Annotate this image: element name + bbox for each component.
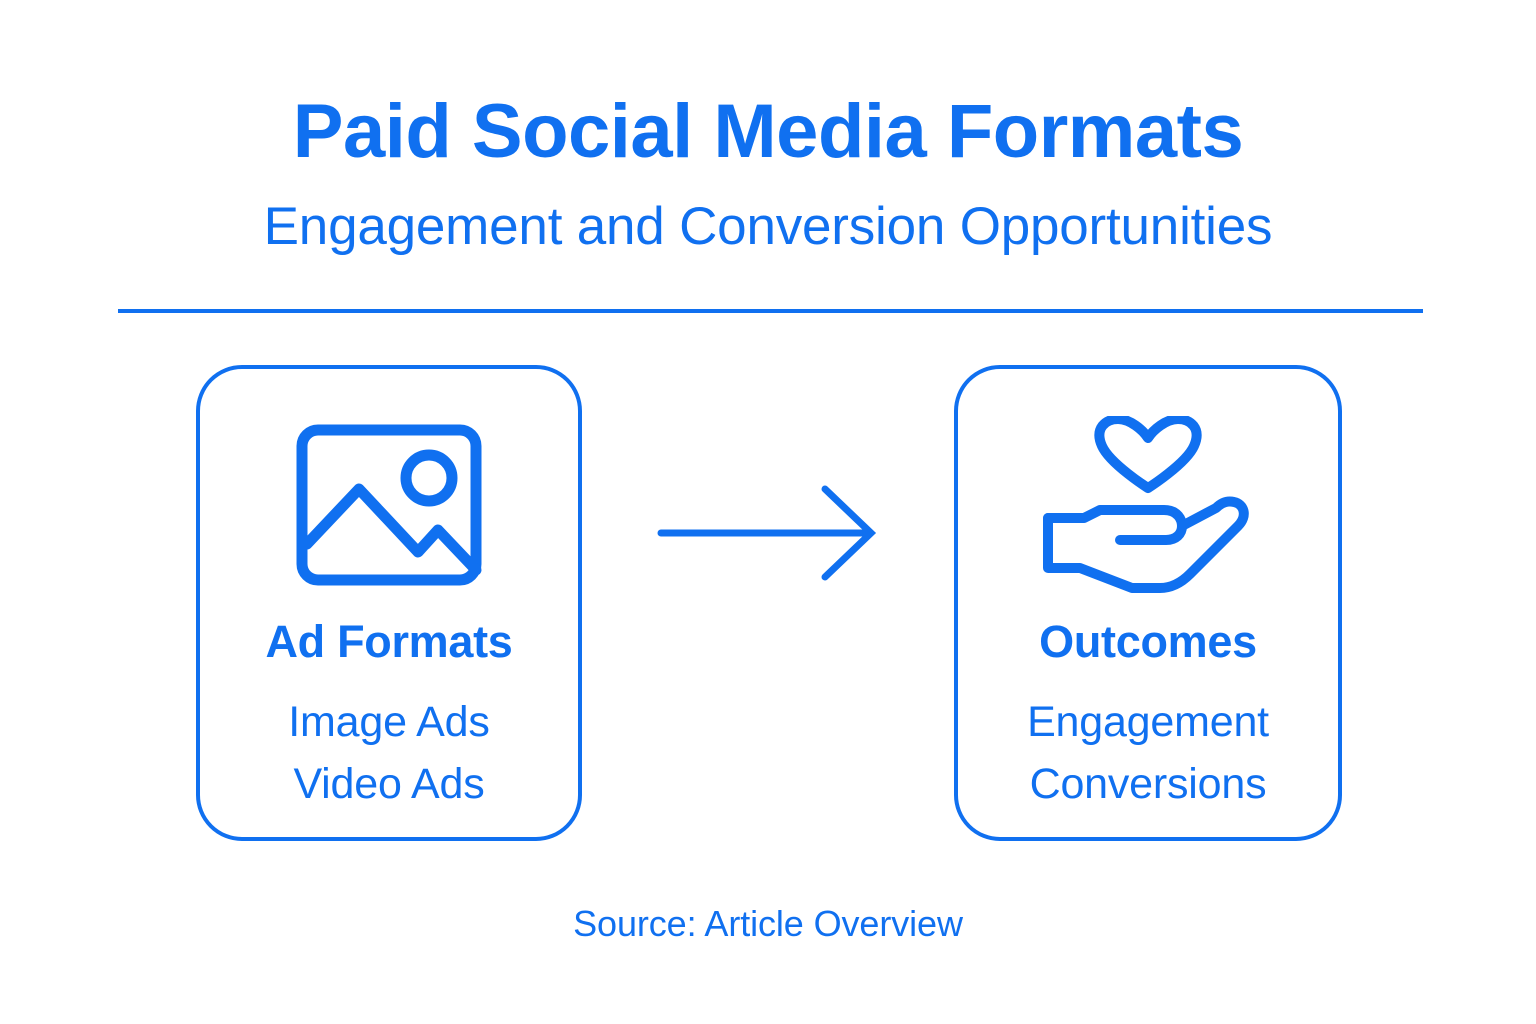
image-icon [296, 424, 482, 586]
card-items-outcomes: Engagement Conversions [958, 691, 1338, 815]
page-subtitle: Engagement and Conversion Opportunities [0, 198, 1536, 256]
card-icon-wrap [200, 417, 578, 593]
heart-in-hand-icon [1040, 416, 1256, 594]
card-item: Engagement [958, 691, 1338, 753]
header-divider [118, 309, 1423, 313]
node-card-outcomes[interactable]: Outcomes Engagement Conversions [954, 365, 1342, 841]
source-caption: Source: Article Overview [0, 903, 1536, 945]
flow-arrow-icon [655, 483, 880, 583]
card-heading-ad-formats: Ad Formats [200, 616, 578, 668]
node-card-ad-formats[interactable]: Ad Formats Image Ads Video Ads [196, 365, 582, 841]
card-icon-wrap [958, 417, 1338, 593]
card-heading-outcomes: Outcomes [958, 616, 1338, 668]
page-title: Paid Social Media Formats [0, 92, 1536, 172]
card-item: Image Ads [200, 691, 578, 753]
infographic-canvas: Paid Social Media Formats Engagement and… [0, 0, 1536, 1024]
card-item: Video Ads [200, 753, 578, 815]
card-items-ad-formats: Image Ads Video Ads [200, 691, 578, 815]
card-item: Conversions [958, 753, 1338, 815]
